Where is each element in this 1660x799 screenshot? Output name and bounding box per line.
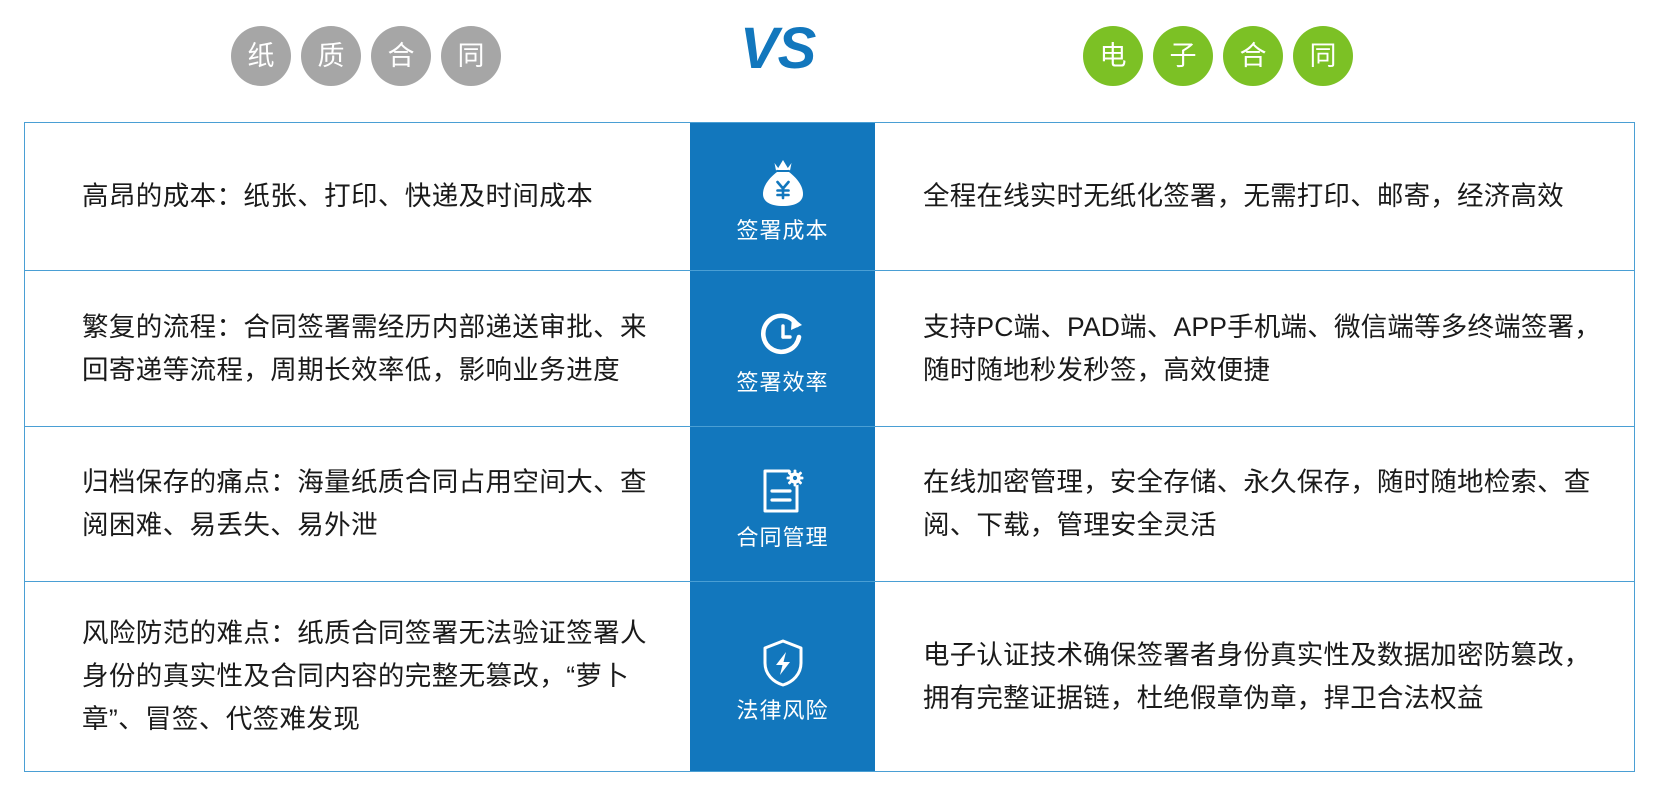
badge-paper-3: 合 — [371, 26, 431, 86]
table-row: 风险防范的难点：纸质合同签署无法验证签署人身份的真实性及合同内容的完整无篡改，“… — [24, 581, 1635, 772]
electronic-contract-badges: 电 子 合 同 — [1083, 26, 1353, 86]
row-2-electronic-text: 支持PC端、PAD端、APP手机端、微信端等多终端签署，随时随地秒发秒签，高效便… — [923, 306, 1604, 392]
vs-label: VS — [740, 20, 815, 78]
table-row: 归档保存的痛点：海量纸质合同占用空间大、查阅困难、易丢失、易外泄 — [24, 426, 1635, 581]
row-3-electronic-text: 在线加密管理，安全存储、永久保存，随时随地检索、查阅、下载，管理安全灵活 — [923, 461, 1604, 547]
row-1-electronic-text: 全程在线实时无纸化签署，无需打印、邮寄，经济高效 — [923, 175, 1564, 218]
clock-arrow-icon — [758, 304, 808, 360]
shield-bolt-icon — [761, 632, 805, 688]
row-4-category-label: 法律风险 — [736, 700, 828, 722]
badge-electronic-1: 电 — [1083, 26, 1143, 86]
row-1-paper-cell: 高昂的成本：纸张、打印、快递及时间成本 — [25, 123, 690, 270]
badge-paper-1: 纸 — [231, 26, 291, 86]
row-4-electronic-cell: 电子认证技术确保签署者身份真实性及数据加密防篡改，拥有完整证据链，杜绝假章伪章，… — [875, 582, 1634, 771]
paper-contract-badges: 纸 质 合 同 — [231, 26, 501, 86]
row-2-paper-text: 繁复的流程：合同签署需经历内部递送审批、来回寄递等流程，周期长效率低，影响业务进… — [82, 306, 654, 392]
row-2-category-label: 签署效率 — [736, 372, 828, 394]
row-3-electronic-cell: 在线加密管理，安全存储、永久保存，随时随地检索、查阅、下载，管理安全灵活 — [875, 427, 1634, 581]
badge-electronic-4: 同 — [1293, 26, 1353, 86]
money-bag-icon — [760, 152, 806, 208]
badge-electronic-3: 合 — [1223, 26, 1283, 86]
document-gear-icon — [759, 459, 807, 515]
row-2-electronic-cell: 支持PC端、PAD端、APP手机端、微信端等多终端签署，随时随地秒发秒签，高效便… — [875, 271, 1634, 426]
row-3-category-label: 合同管理 — [736, 527, 828, 549]
row-1-paper-text: 高昂的成本：纸张、打印、快递及时间成本 — [82, 175, 593, 218]
header: 纸 质 合 同 VS 电 子 合 同 — [0, 0, 1660, 112]
badge-electronic-2: 子 — [1153, 26, 1213, 86]
row-2-category-cell: 签署效率 — [690, 271, 875, 426]
badge-paper-2: 质 — [301, 26, 361, 86]
table-row: 高昂的成本：纸张、打印、快递及时间成本 签署成本 全程在线实时无纸化签署，无需打… — [24, 122, 1635, 270]
row-4-category-cell: 法律风险 — [690, 582, 875, 771]
row-4-paper-cell: 风险防范的难点：纸质合同签署无法验证签署人身份的真实性及合同内容的完整无篡改，“… — [25, 582, 690, 771]
row-3-paper-text: 归档保存的痛点：海量纸质合同占用空间大、查阅困难、易丢失、易外泄 — [82, 461, 654, 547]
table-row: 繁复的流程：合同签署需经历内部递送审批、来回寄递等流程，周期长效率低，影响业务进… — [24, 270, 1635, 426]
row-4-paper-text: 风险防范的难点：纸质合同签署无法验证签署人身份的真实性及合同内容的完整无篡改，“… — [82, 612, 654, 741]
row-1-category-cell: 签署成本 — [690, 123, 875, 270]
row-3-paper-cell: 归档保存的痛点：海量纸质合同占用空间大、查阅困难、易丢失、易外泄 — [25, 427, 690, 581]
row-2-paper-cell: 繁复的流程：合同签署需经历内部递送审批、来回寄递等流程，周期长效率低，影响业务进… — [25, 271, 690, 426]
row-1-category-label: 签署成本 — [736, 220, 828, 242]
row-4-electronic-text: 电子认证技术确保签署者身份真实性及数据加密防篡改，拥有完整证据链，杜绝假章伪章，… — [923, 634, 1604, 720]
badge-paper-4: 同 — [441, 26, 501, 86]
row-3-category-cell: 合同管理 — [690, 427, 875, 581]
comparison-table: 高昂的成本：纸张、打印、快递及时间成本 签署成本 全程在线实时无纸化签署，无需打… — [24, 122, 1635, 772]
row-1-electronic-cell: 全程在线实时无纸化签署，无需打印、邮寄，经济高效 — [875, 123, 1634, 270]
